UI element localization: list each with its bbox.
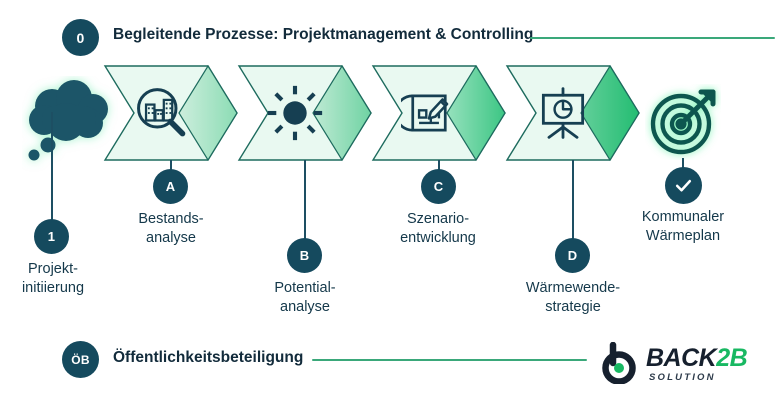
badge-step-c: C: [421, 169, 456, 204]
back2b-subtitle: SOLUTION: [649, 372, 716, 383]
label-potentialanalyse: Potential- analyse: [230, 279, 380, 317]
bottom-banner-title: Öffentlichkeitsbeteiligung: [113, 349, 303, 367]
infographic-canvas: 0 Begleitende Prozesse: Projektmanagemen…: [0, 0, 780, 410]
label-szenarioentwicklung: Szenario- entwicklung: [363, 210, 513, 248]
chevron-step-d[interactable]: [506, 65, 640, 161]
badge-step-a: A: [153, 169, 188, 204]
target-dart-icon: [645, 84, 721, 160]
chevron-step-b[interactable]: [238, 65, 372, 161]
connector-b: [304, 160, 306, 240]
label-kommunaler-waermeplan: Kommunaler Wärmeplan: [608, 208, 758, 246]
connector-d: [572, 160, 574, 240]
badge-process-oeb: ÖB: [62, 341, 99, 378]
chevron-step-a[interactable]: [104, 65, 238, 161]
back2b-b-mark-icon: [600, 342, 642, 384]
badge-step-d: D: [555, 238, 590, 273]
label-projektinitiierung: Projekt- initiierung: [0, 260, 128, 298]
top-banner-rule: [530, 37, 775, 39]
top-banner-title: Begleitende Prozesse: Projektmanagement …: [113, 26, 533, 44]
badge-step-complete: [665, 167, 702, 204]
label-waermewendestrategie: Wärmewende- strategie: [498, 279, 648, 317]
logo-word-dark: BACK: [646, 344, 716, 372]
check-icon: [674, 176, 693, 195]
bottom-banner-rule: [312, 359, 587, 361]
back2b-logo[interactable]: BACK2B SOLUTION: [600, 340, 772, 388]
badge-step-1: 1: [34, 219, 69, 254]
back2b-wordmark: BACK2B: [646, 346, 747, 371]
logo-word-green: 2B: [716, 344, 747, 372]
badge-step-b: B: [287, 238, 322, 273]
badge-process-0: 0: [62, 19, 99, 56]
chevron-step-c[interactable]: [372, 65, 506, 161]
label-bestandsanalyse: Bestands- analyse: [96, 210, 246, 248]
connector-start: [51, 112, 53, 220]
